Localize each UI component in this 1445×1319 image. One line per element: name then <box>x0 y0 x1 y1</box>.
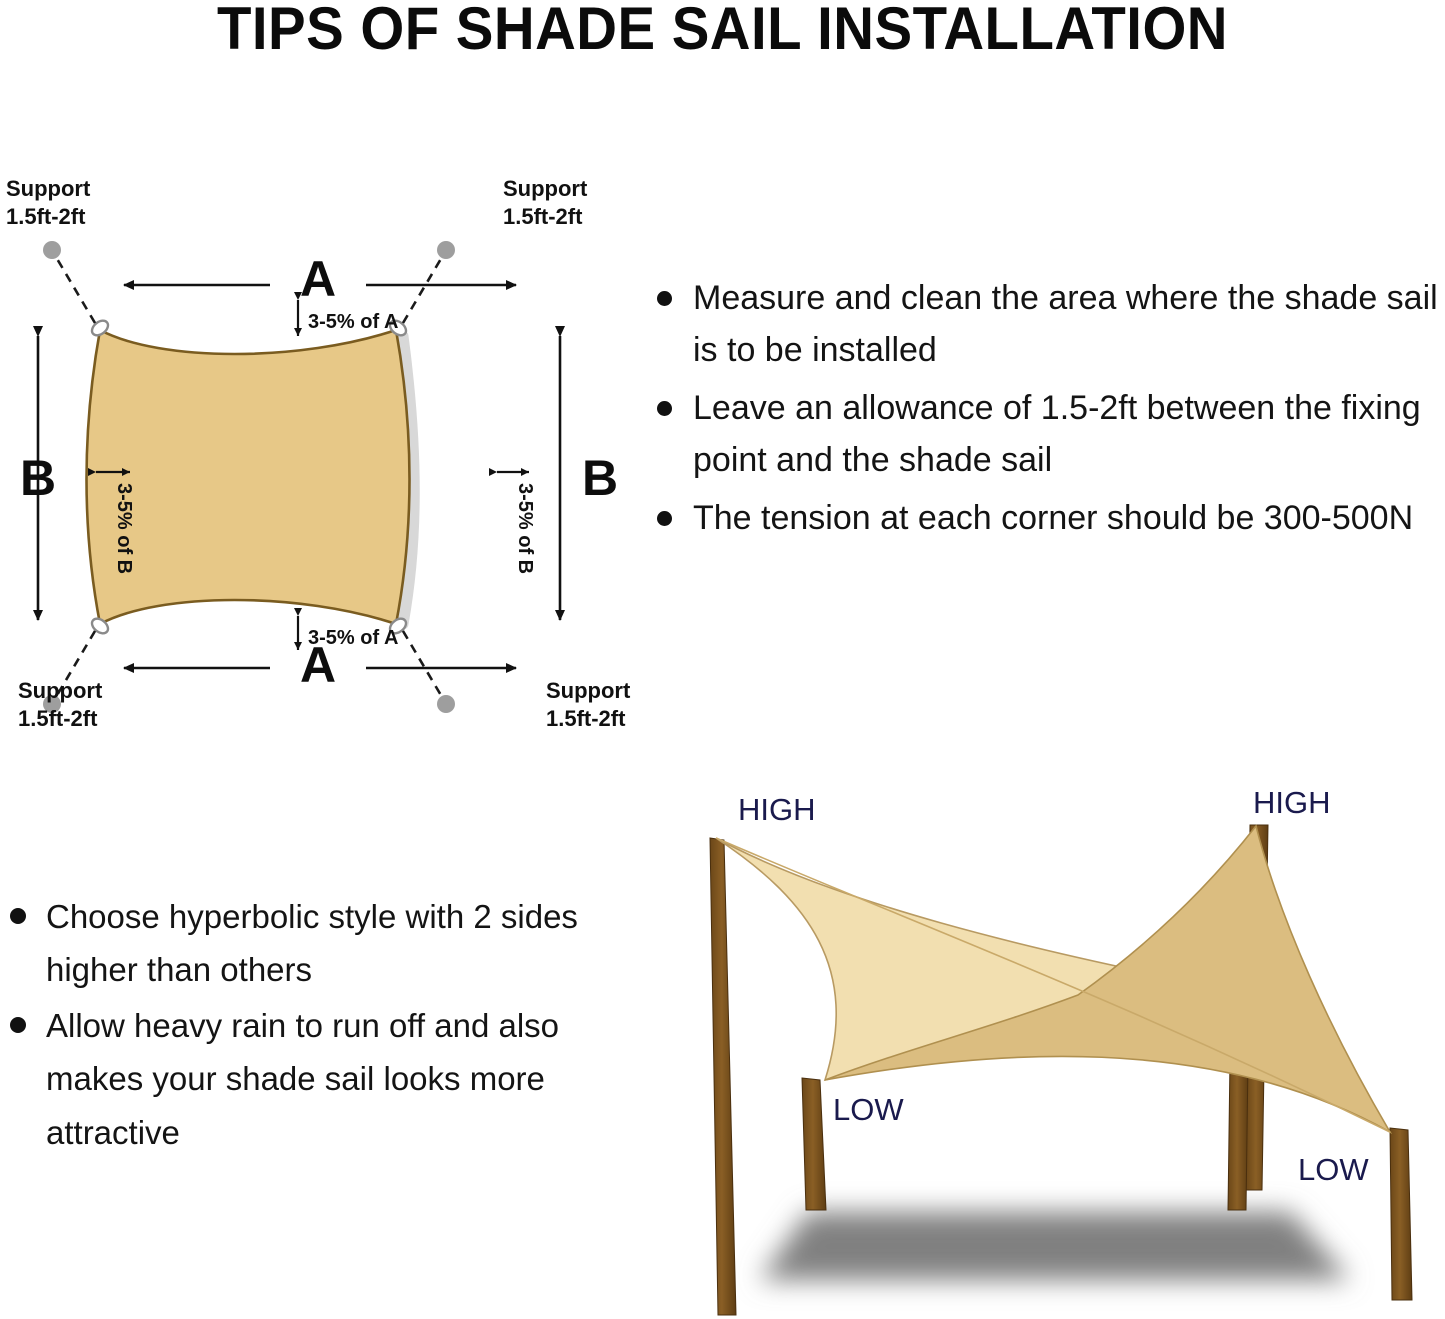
support-label-top-left-line2: 1.5ft-2ft <box>6 204 86 229</box>
support-label-top-right-line1: Support <box>503 176 588 201</box>
callout-b-left-label: 3-5% of B <box>113 483 135 574</box>
dimension-a-top: A <box>124 251 516 307</box>
support-label-top-left-line1: Support <box>6 176 91 201</box>
list-item: Measure and clean the area where the sha… <box>645 272 1445 376</box>
support-label-bottom-left-line1: Support <box>18 678 103 703</box>
post-front-right <box>1390 1128 1412 1300</box>
callout-b-right: 3-5% of B <box>497 472 536 574</box>
support-label-top-right-line2: 1.5ft-2ft <box>503 204 583 229</box>
label-low-left: LOW <box>833 1092 904 1127</box>
support-dot-bottom-right <box>437 695 455 713</box>
dimension-b-left: B <box>20 336 56 620</box>
list-item: Allow heavy rain to run off and also mak… <box>2 999 627 1159</box>
support-label-bottom-left-line2: 1.5ft-2ft <box>18 706 98 731</box>
sail-body <box>87 330 410 624</box>
label-high-left: HIGH <box>738 792 816 827</box>
support-dot-top-right <box>437 241 455 259</box>
callout-a-bottom-label: 3-5% of A <box>308 627 398 649</box>
tips-list-right: Measure and clean the area where the sha… <box>645 272 1445 550</box>
label-high-right: HIGH <box>1253 785 1331 820</box>
support-label-bottom-right-line1: Support <box>546 678 631 703</box>
dimension-a-top-label: A <box>300 251 336 307</box>
post-mid-right <box>1228 1058 1248 1210</box>
page-title: TIPS OF SHADE SAIL INSTALLATION <box>43 0 1401 63</box>
callout-a-top-label: 3-5% of A <box>308 311 398 333</box>
list-item: The tension at each corner should be 300… <box>645 492 1445 544</box>
callout-b-right-label: 3-5% of B <box>514 483 536 574</box>
support-dot-top-left <box>43 241 61 259</box>
shade-sail-dimension-diagram: Support 1.5ft-2ft Support 1.5ft-2ft Supp… <box>0 150 700 750</box>
post-front-left <box>802 1078 826 1210</box>
hyperbolic-sail-illustration: HIGH HIGH LOW LOW <box>690 780 1445 1319</box>
post-back-left <box>710 838 736 1315</box>
dimension-b-right: B <box>560 336 618 620</box>
label-low-right: LOW <box>1298 1152 1369 1187</box>
dimension-b-left-label: B <box>20 450 56 506</box>
tips-list-left: Choose hyperbolic style with 2 sides hig… <box>2 890 627 1161</box>
dimension-b-right-label: B <box>582 450 618 506</box>
support-label-bottom-right-line2: 1.5ft-2ft <box>546 706 626 731</box>
list-item: Leave an allowance of 1.5-2ft between th… <box>645 382 1445 486</box>
ground-shadow <box>760 1212 1350 1280</box>
list-item: Choose hyperbolic style with 2 sides hig… <box>2 890 627 997</box>
